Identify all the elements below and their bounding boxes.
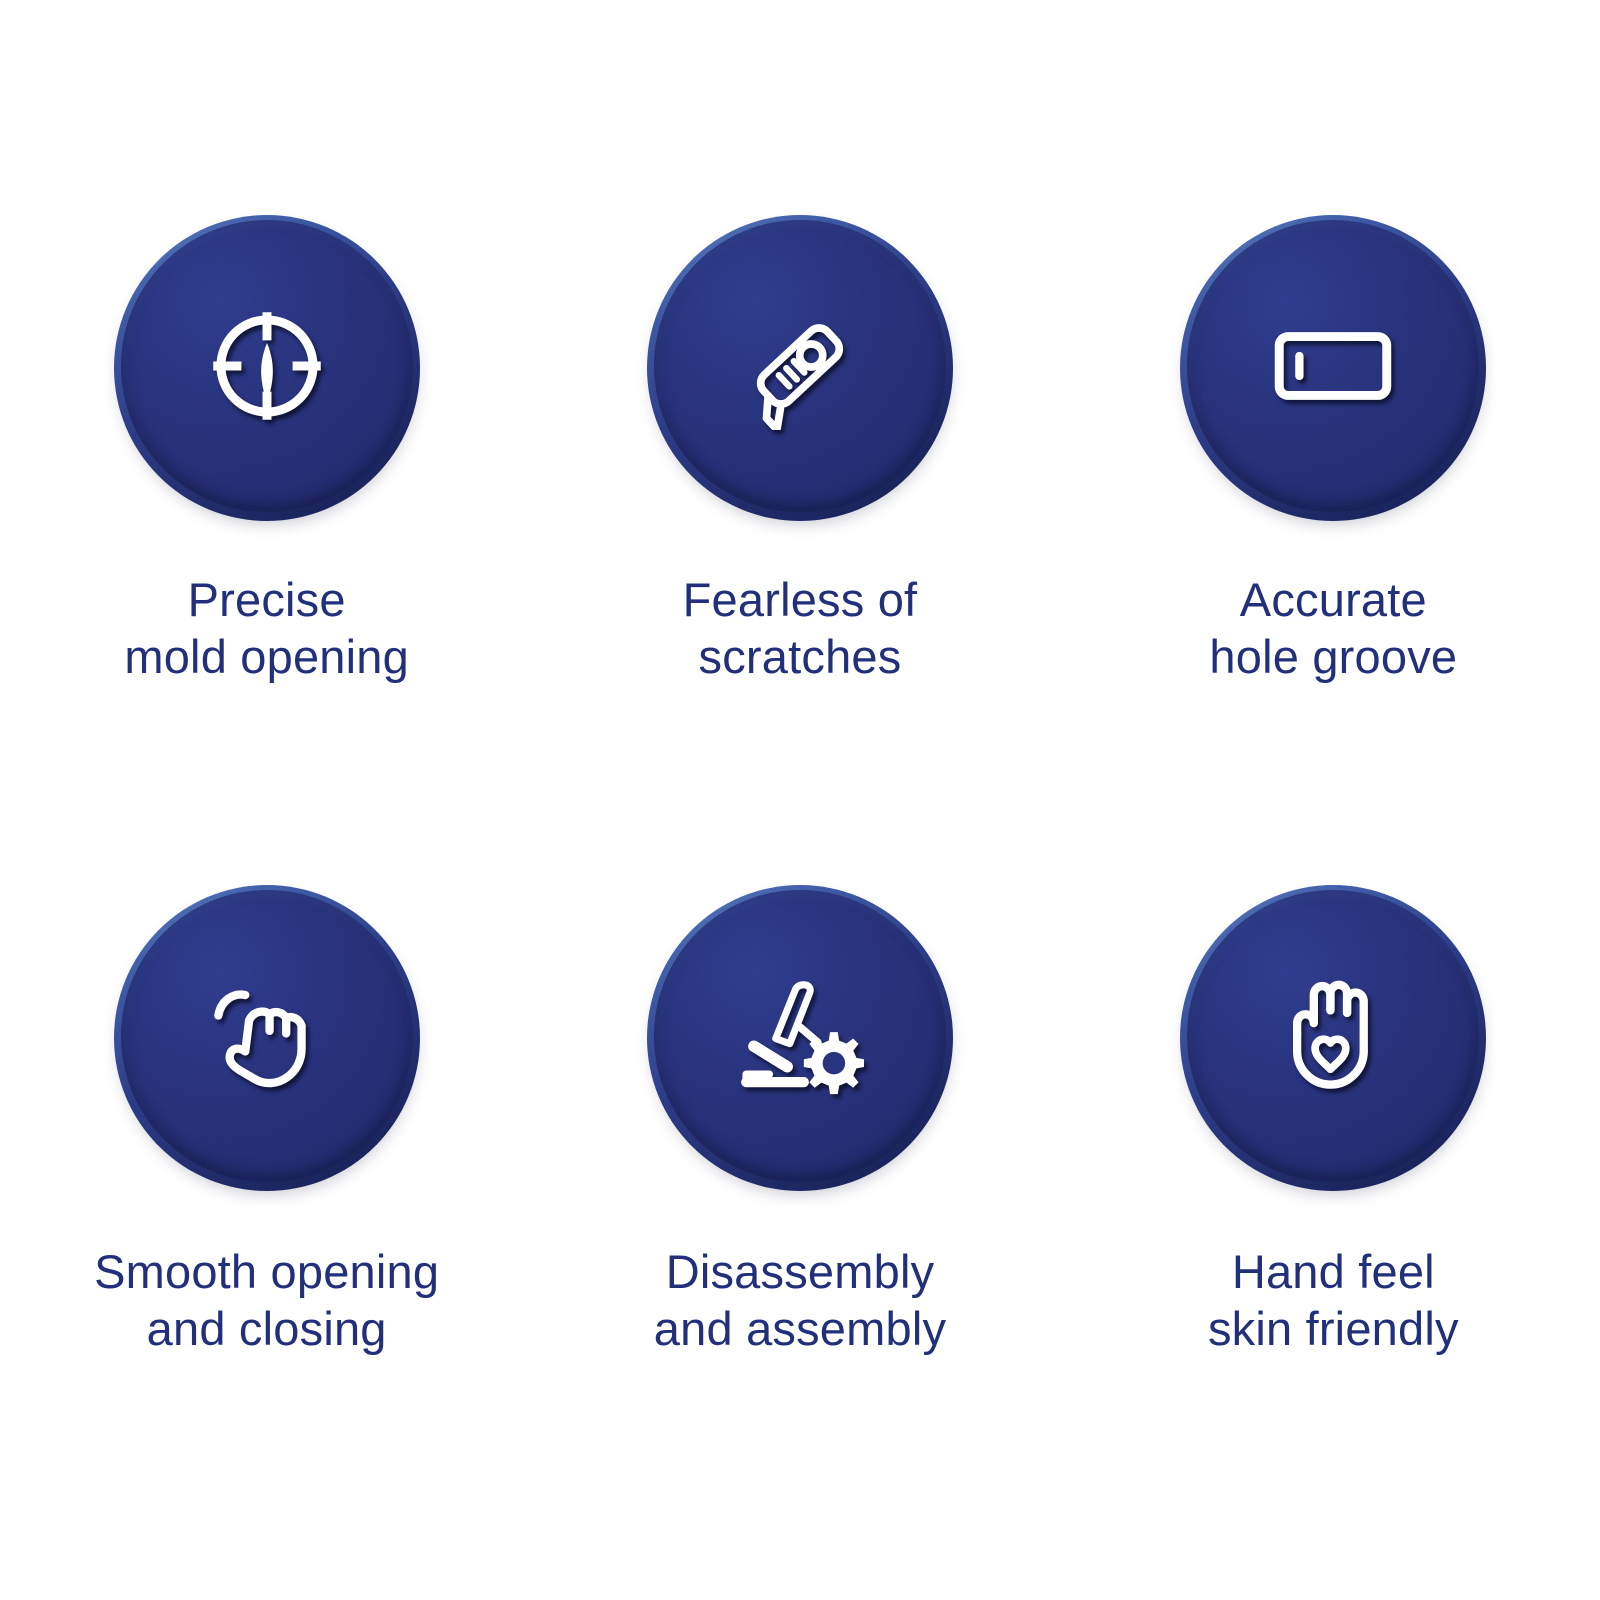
feature-item-fearless-of-scratches: Fearless of scratches — [533, 0, 1066, 686]
feature-badge — [647, 215, 953, 521]
feature-item-precise-mold-opening: Precise mold opening — [0, 0, 533, 686]
badge-disc — [654, 220, 946, 512]
feature-item-hand-feel-skin-friendly: Hand feel skin friendly — [1067, 800, 1600, 1358]
feature-caption: Accurate hole groove — [1209, 571, 1457, 686]
crosshair-target-icon — [203, 302, 331, 430]
feature-caption: Precise mold opening — [124, 571, 409, 686]
feature-caption: Fearless of scratches — [683, 571, 918, 686]
feature-item-smooth-opening-and-closing: Smooth opening and closing — [0, 800, 533, 1358]
feature-badge — [647, 885, 953, 1191]
feature-item-accurate-hole-groove: Accurate hole groove — [1067, 0, 1600, 686]
feature-item-disassembly-and-assembly: Disassembly and assembly — [533, 800, 1066, 1358]
feature-highlight-board: Precise mold opening — [0, 0, 1600, 1600]
hand-heart-icon — [1269, 972, 1397, 1100]
feature-caption: Disassembly and assembly — [654, 1243, 946, 1358]
feature-badge — [114, 885, 420, 1191]
badge-disc — [1187, 220, 1479, 512]
feature-badge — [1180, 215, 1486, 521]
phone-case-hole-groove-icon — [1269, 302, 1397, 430]
hand-tap-gesture-icon — [203, 972, 331, 1100]
tool-gear-assembly-icon — [736, 972, 864, 1100]
feature-badge — [1180, 885, 1486, 1191]
badge-disc — [121, 220, 413, 512]
feature-grid: Precise mold opening — [0, 0, 1600, 1600]
utility-knife-icon — [736, 302, 864, 430]
badge-disc — [121, 890, 413, 1182]
feature-caption: Smooth opening and closing — [94, 1243, 439, 1358]
badge-disc — [1187, 890, 1479, 1182]
badge-disc — [654, 890, 946, 1182]
feature-badge — [114, 215, 420, 521]
feature-caption: Hand feel skin friendly — [1208, 1243, 1459, 1358]
